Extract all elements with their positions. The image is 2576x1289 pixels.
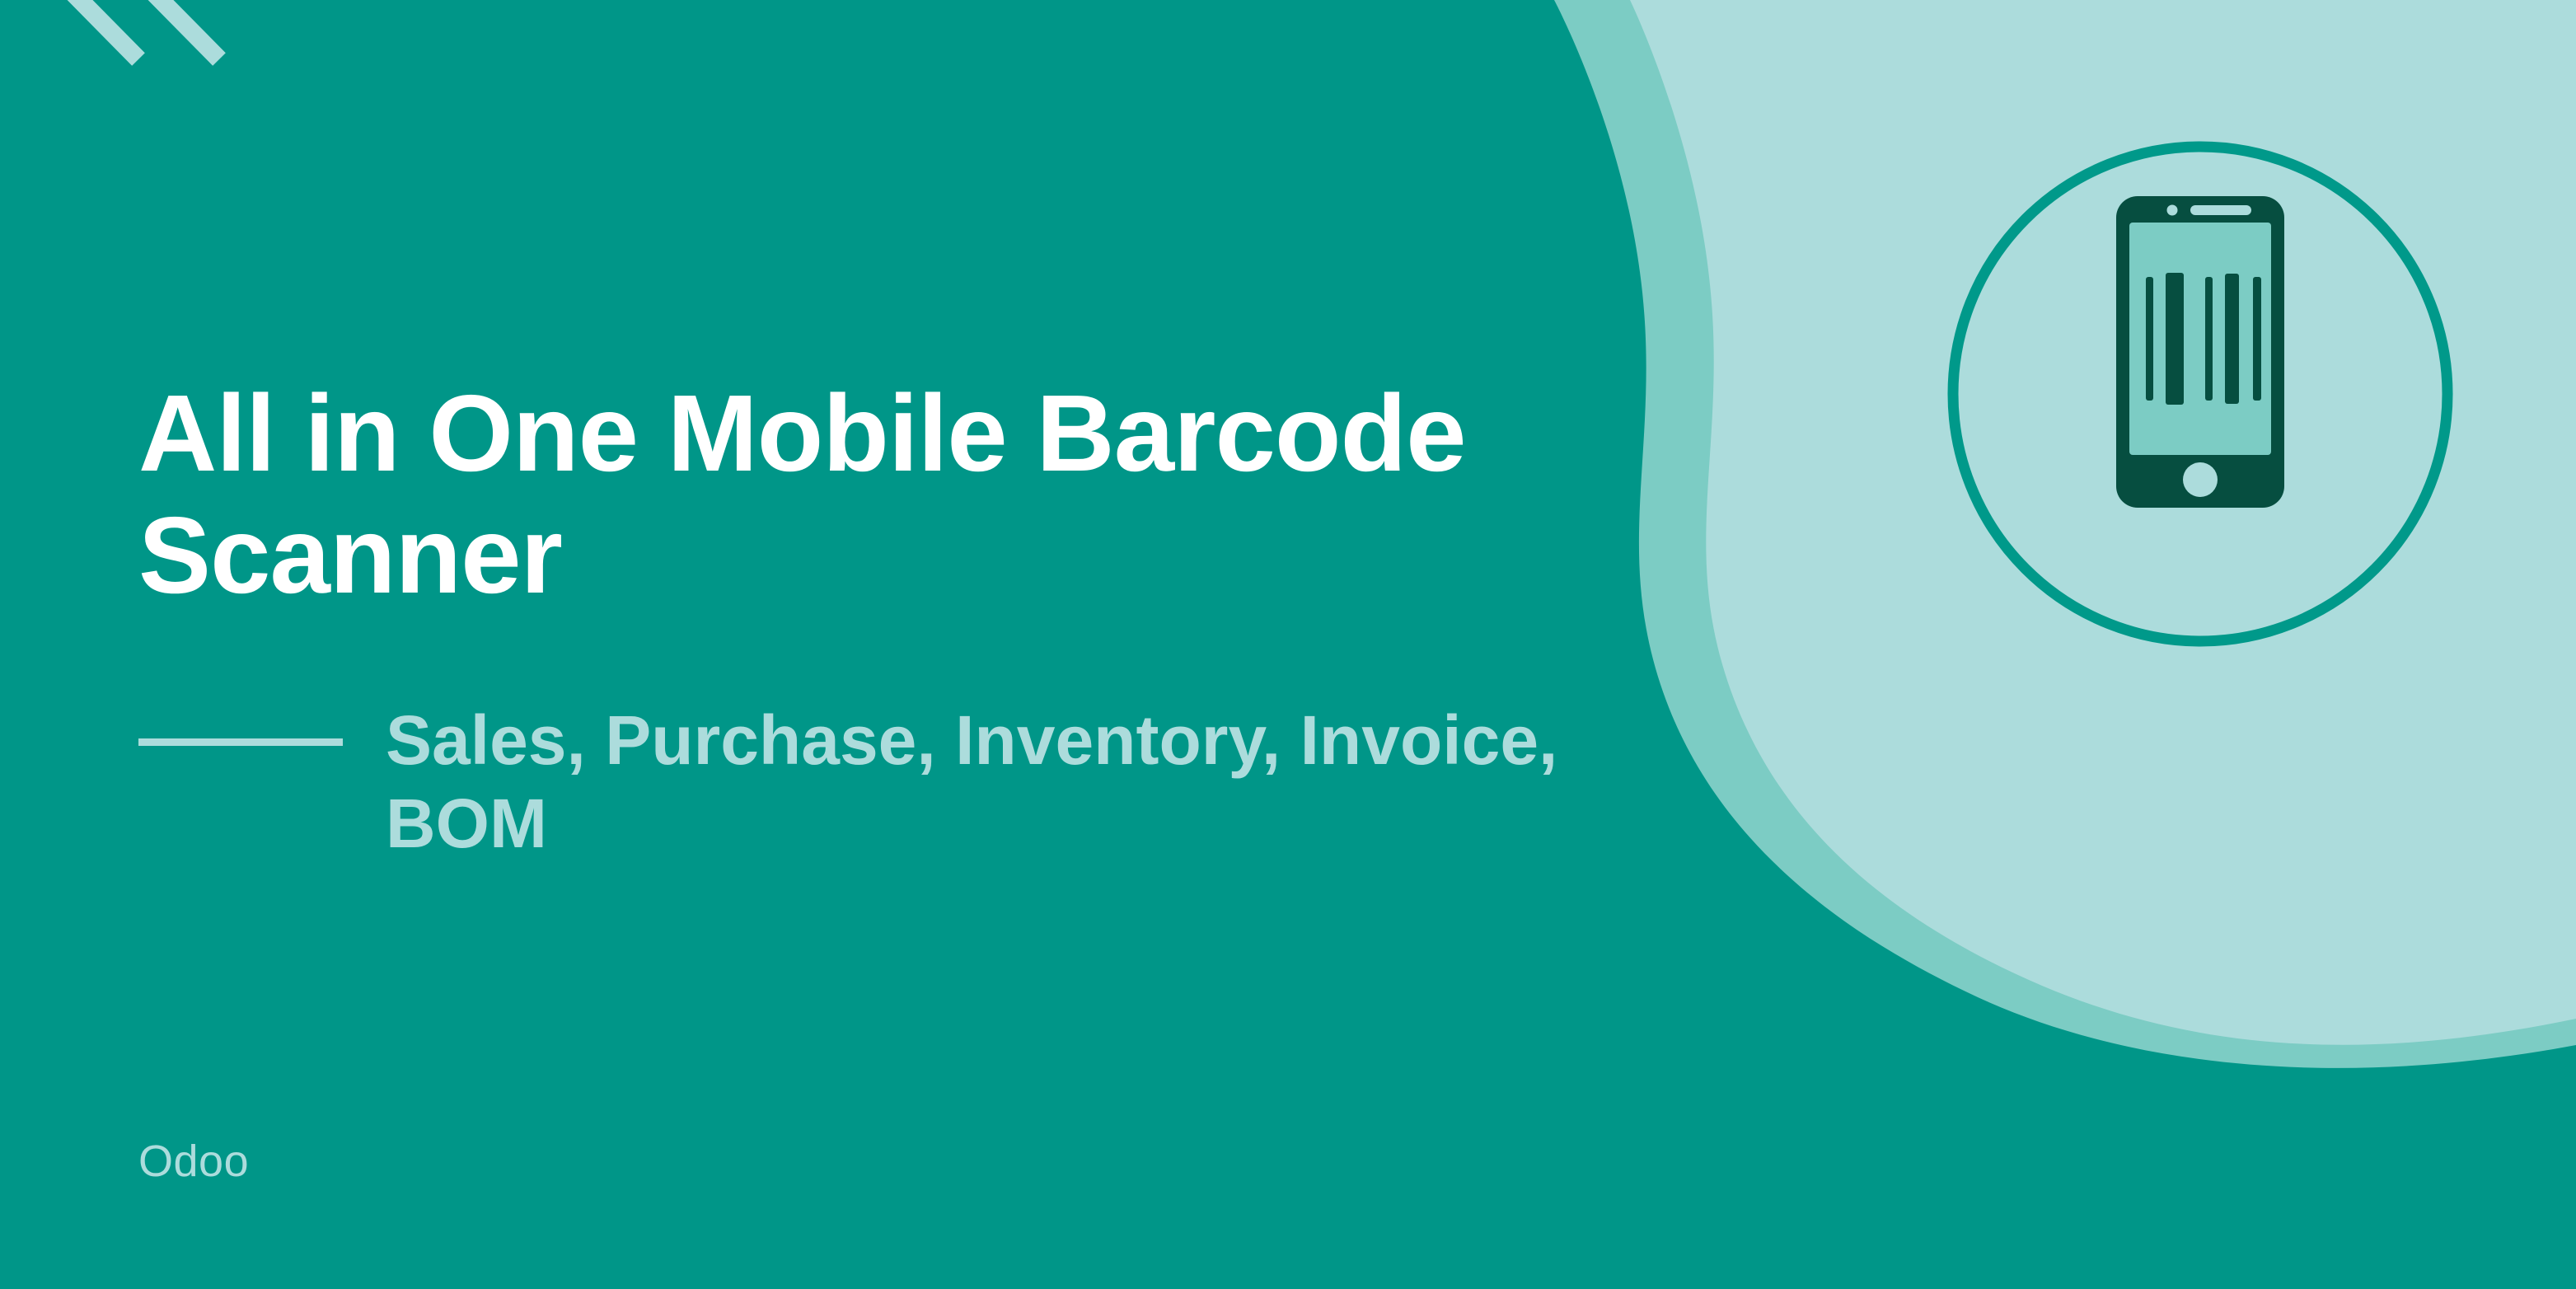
page-subtitle: Sales, Purchase, Inventory, Invoice, BOM [386, 699, 1622, 865]
slide-canvas: All in One Mobile Barcode Scanner Sales,… [0, 0, 2576, 1289]
mobile-barcode-icon [1928, 122, 2472, 666]
barcode-bar [2205, 277, 2213, 401]
footer-brand-label: Odoo [138, 1136, 249, 1187]
phone-speaker-icon [2190, 205, 2251, 215]
barcode-bar [2146, 277, 2153, 401]
corner-stripe-1 [23, 0, 138, 59]
subheadline-rule [138, 738, 343, 746]
barcode-bar [2253, 277, 2261, 401]
barcode-bar [2166, 273, 2184, 405]
subheadline-block: Sales, Purchase, Inventory, Invoice, BOM [138, 699, 1622, 865]
phone-camera-icon [2167, 205, 2178, 216]
phone-home-button-icon [2183, 462, 2218, 497]
barcode-bar [2225, 274, 2239, 404]
barcode-bar [2276, 277, 2283, 401]
page-title: All in One Mobile Barcode Scanner [138, 373, 1721, 616]
text-column: All in One Mobile Barcode Scanner Sales,… [138, 0, 1754, 1289]
